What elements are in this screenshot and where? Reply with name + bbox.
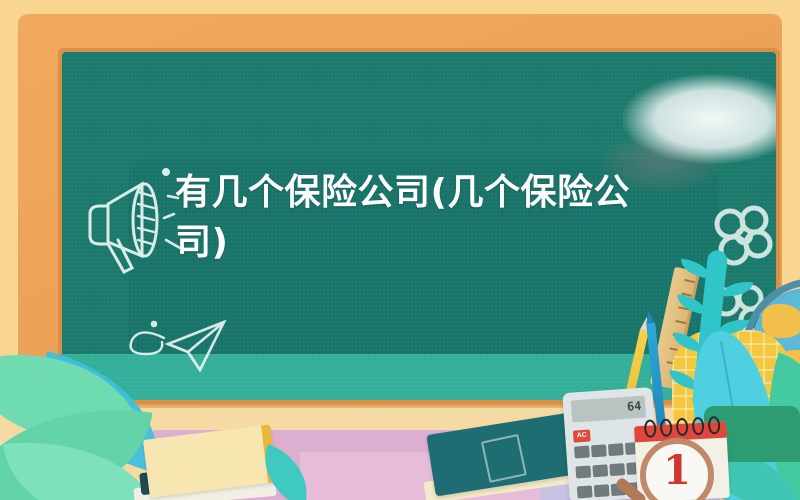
calculator-clear-key-label: AC [573,429,591,442]
thumbnail-canvas: 有几个保险公司(几个保险公司) школа [0,0,800,500]
page-title: 有几个保险公司(几个保险公司) [175,168,645,268]
chalk-smudge [622,74,776,164]
calculator-clear-key: AC [573,429,591,442]
magnifying-glass-icon: 1 [640,438,714,500]
magnified-number: 1 [646,448,708,494]
calculator-display-value: 64 [626,399,641,414]
calculator-screen: 64 [571,396,646,423]
title-block: 有几个保险公司(几个保险公司) [175,168,645,268]
